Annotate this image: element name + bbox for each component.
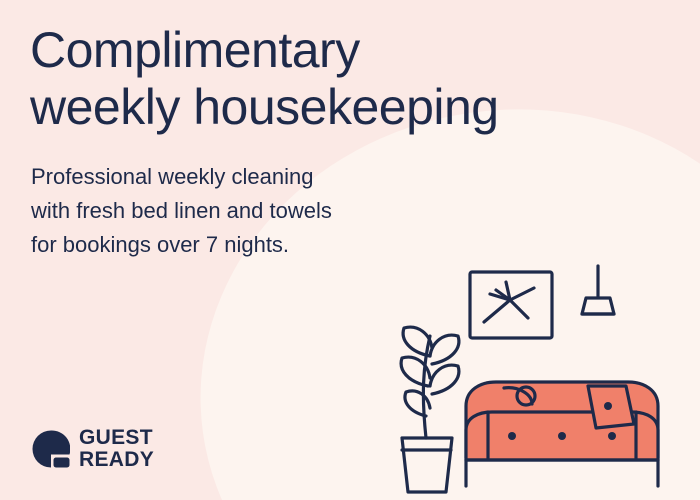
subhead-line-3: for bookings over 7 nights. (31, 228, 461, 262)
living-room-illustration (392, 260, 692, 500)
framed-picture-icon (470, 272, 552, 338)
page-title: Complimentary weekly housekeeping (30, 22, 630, 135)
brand-logo-line-1: GUEST (79, 427, 154, 448)
promo-card: Complimentary weekly housekeeping Profes… (0, 0, 700, 500)
card-content: Complimentary weekly housekeeping Profes… (0, 0, 700, 500)
subhead-line-1: Professional weekly cleaning (31, 160, 461, 194)
brand-logo: GUEST READY (32, 427, 154, 470)
potted-plant-icon (401, 327, 459, 492)
subhead-line-2: with fresh bed linen and towels (31, 194, 461, 228)
floor-lamp-icon (582, 266, 614, 314)
brand-logo-line-2: READY (79, 449, 154, 470)
guestready-logo-mark-icon (32, 430, 70, 468)
headline-line-2: weekly housekeeping (30, 79, 630, 136)
sofa-icon (466, 382, 658, 486)
headline-line-1: Complimentary (30, 22, 630, 79)
brand-logo-text: GUEST READY (79, 427, 154, 470)
subheading: Professional weekly cleaning with fresh … (31, 160, 461, 262)
